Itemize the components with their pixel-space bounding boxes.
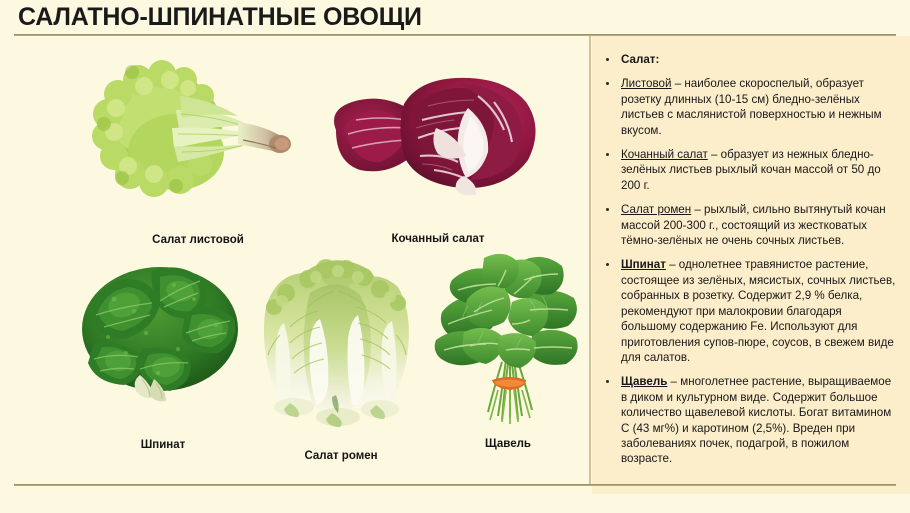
figure-caption: Шпинат bbox=[68, 439, 258, 451]
bottom-divider bbox=[14, 484, 896, 486]
page-title: САЛАТНО-ШПИНАТНЫЕ ОВОЩИ bbox=[18, 3, 422, 32]
figure-caption: Щавель bbox=[428, 438, 588, 450]
image-gallery: Салат листовой bbox=[0, 40, 589, 484]
romaine-lettuce-image bbox=[246, 245, 436, 435]
list-item-lead: Салат ромен bbox=[621, 203, 691, 216]
figure-spinach: Шпинат bbox=[68, 245, 258, 470]
list-item-lead: Листовой bbox=[621, 77, 671, 90]
list-item: Салат: bbox=[600, 52, 900, 67]
figure-sorrel: Щавель bbox=[428, 240, 588, 465]
list-item-lead: Шпинат bbox=[621, 258, 666, 271]
radicchio-image bbox=[318, 68, 558, 203]
figure-romaine: Салат ромен bbox=[246, 245, 436, 470]
list-item-lead: Щавель bbox=[621, 375, 667, 388]
description-list: Салат: Листовой – наиболее скороспелый, … bbox=[600, 52, 900, 476]
leaf-lettuce-image bbox=[88, 52, 308, 217]
list-item: Салат ромен – рыхлый, сильно вытянутый к… bbox=[600, 202, 900, 248]
list-item-lead: Салат: bbox=[621, 53, 659, 66]
spinach-image bbox=[68, 245, 258, 430]
vertical-divider bbox=[589, 36, 591, 486]
figure-radicchio: Кочанный салат bbox=[318, 68, 558, 258]
list-item-lead: Кочанный салат bbox=[621, 148, 708, 161]
list-item-body: – однолетнее травянистое растение, состо… bbox=[621, 258, 895, 363]
list-item: Листовой – наиболее скороспелый, образуе… bbox=[600, 76, 900, 138]
list-item-body: – многолетнее растение, выращиваемое в д… bbox=[621, 375, 891, 465]
slide-root: САЛАТНО-ШПИНАТНЫЕ ОВОЩИ bbox=[0, 0, 910, 513]
sorrel-image bbox=[428, 240, 588, 430]
list-item: Шпинат – однолетнее травянистое растение… bbox=[600, 257, 900, 365]
list-item: Щавель – многолетнее растение, выращивае… bbox=[600, 374, 900, 466]
figure-caption: Салат ромен bbox=[246, 450, 436, 462]
slide-header: САЛАТНО-ШПИНАТНЫЕ ОВОЩИ bbox=[0, 0, 910, 40]
figure-leaf-lettuce: Салат листовой bbox=[88, 52, 308, 257]
list-item: Кочанный салат – образует из нежных блед… bbox=[600, 147, 900, 193]
